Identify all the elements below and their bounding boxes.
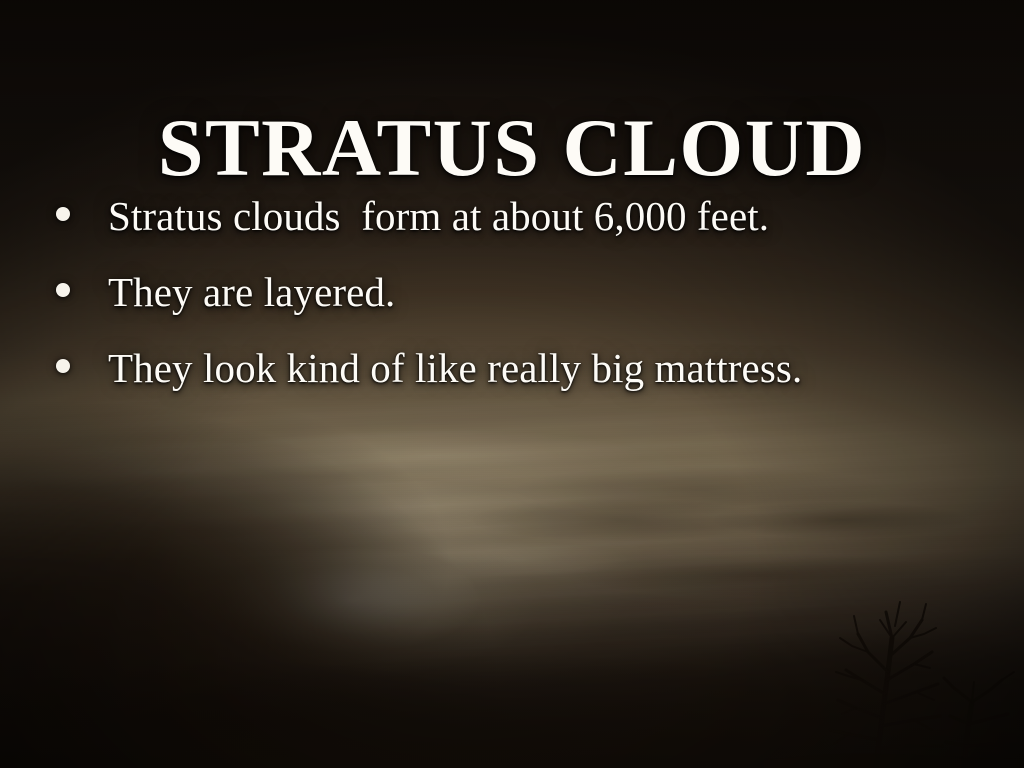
bullet-dot-icon bbox=[56, 359, 70, 373]
slide-title: STRATUS CLOUD bbox=[0, 107, 1024, 189]
bullet-text: They look kind of like really big mattre… bbox=[108, 348, 1016, 389]
bullet-item: They are layered. bbox=[56, 272, 1016, 348]
bullet-dot-icon bbox=[56, 283, 70, 297]
bullet-text: They are layered. bbox=[108, 272, 1016, 313]
bullet-list: Stratus clouds form at about 6,000 feet.… bbox=[56, 196, 1016, 424]
bullet-item: Stratus clouds form at about 6,000 feet. bbox=[56, 196, 1016, 272]
presentation-slide: STRATUS CLOUD Stratus clouds form at abo… bbox=[0, 0, 1024, 768]
bullet-dot-icon bbox=[56, 207, 70, 221]
slide-content: STRATUS CLOUD Stratus clouds form at abo… bbox=[0, 0, 1024, 768]
bullet-text: Stratus clouds form at about 6,000 feet. bbox=[108, 196, 1016, 237]
bullet-item: They look kind of like really big mattre… bbox=[56, 348, 1016, 424]
